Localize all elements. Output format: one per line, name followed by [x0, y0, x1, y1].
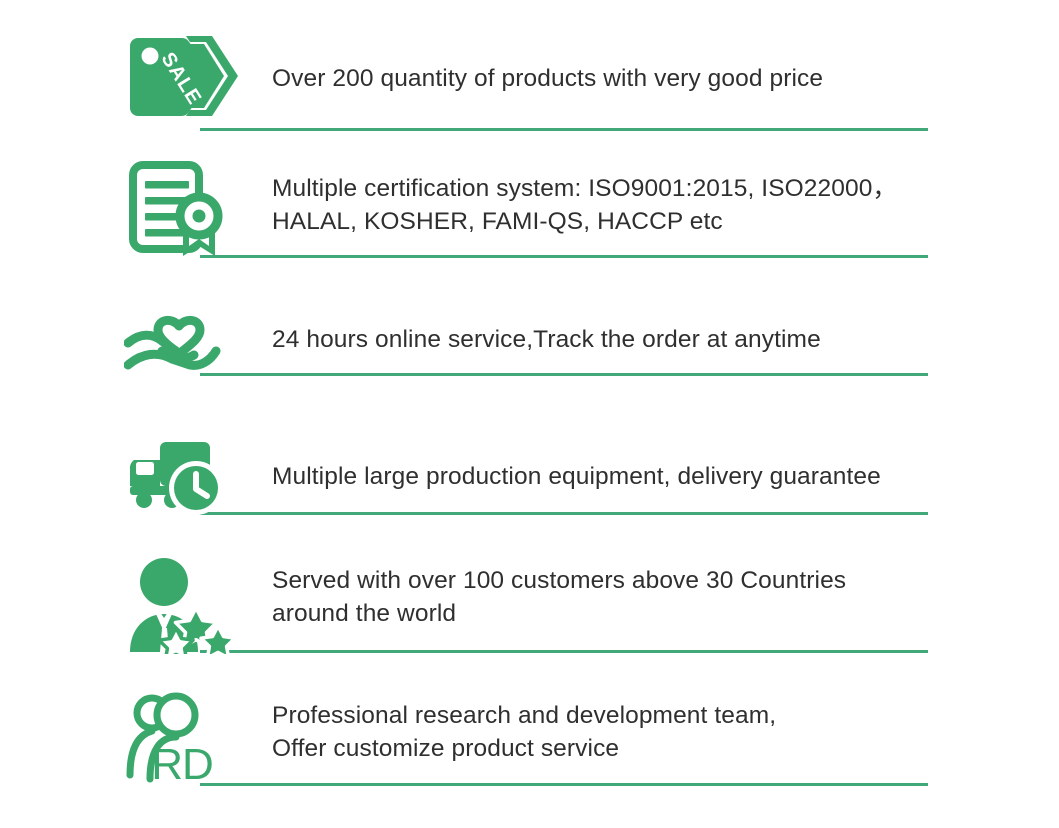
row-underline [200, 650, 928, 653]
customer-stars-icon [126, 556, 234, 654]
feature-text: Multiple certification system: ISO9001:2… [272, 172, 972, 238]
feature-row: SALE Over 200 quantity of products with … [0, 14, 1059, 149]
feature-text: Over 200 quantity of products with very … [272, 62, 972, 95]
row-underline [200, 128, 928, 131]
feature-text: Professional research and development te… [272, 699, 972, 765]
row-underline [200, 783, 928, 786]
feature-row: RD Professional research and development… [0, 685, 1059, 820]
delivery-truck-clock-icon [126, 434, 236, 520]
feature-row: Served with over 100 customers above 30 … [0, 550, 1059, 685]
row-underline [200, 373, 928, 376]
rd-label: RD [151, 740, 213, 787]
hand-heart-icon [124, 293, 234, 379]
certificate-icon [128, 160, 224, 258]
feature-text: Served with over 100 customers above 30 … [272, 564, 972, 630]
rd-team-icon: RD [126, 691, 236, 787]
features-list: SALE Over 200 quantity of products with … [0, 0, 1059, 828]
feature-text: Multiple large production equipment, del… [272, 460, 972, 493]
row-underline [200, 255, 928, 258]
sale-tag-icon: SALE [126, 30, 238, 122]
feature-row: Multiple certification system: ISO9001:2… [0, 150, 1059, 285]
feature-row: Multiple large production equipment, del… [0, 420, 1059, 555]
row-underline [200, 512, 928, 515]
feature-text: 24 hours online service,Track the order … [272, 323, 972, 356]
feature-row: 24 hours online service,Track the order … [0, 285, 1059, 420]
